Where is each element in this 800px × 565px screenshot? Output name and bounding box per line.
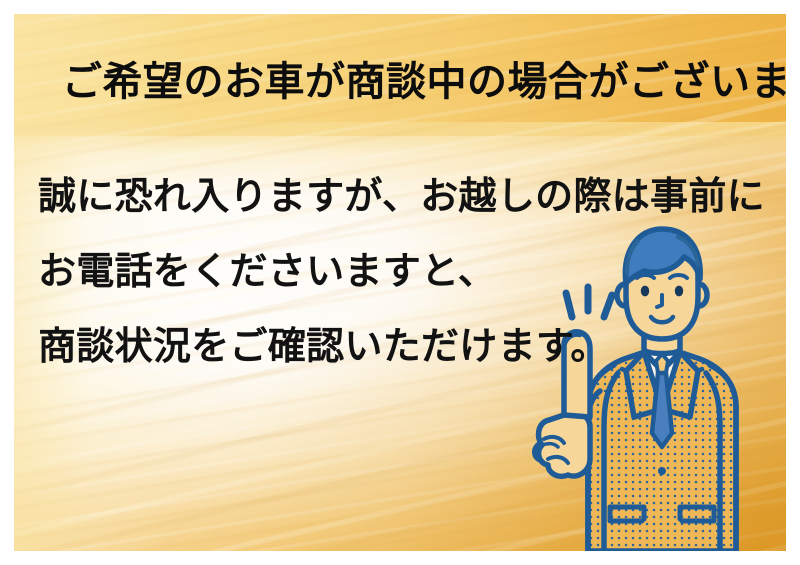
text-layer: ご希望のお車が商談中の場合がございます 誠に恐れ入りますが、お越しの際は事前に … [14,14,786,551]
body-line-3: 商談状況をご確認いただけます。 [38,323,609,369]
body-line-2: お電話をくださいますと、 [38,248,496,294]
page-title: ご希望のお車が商談中の場合がございます [62,56,786,108]
body-line-1: 誠に恐れ入りますが、お越しの際は事前に [38,173,765,219]
poster-root: ご希望のお車が商談中の場合がございます 誠に恐れ入りますが、お越しの際は事前に … [0,0,800,565]
poster-canvas: ご希望のお車が商談中の場合がございます 誠に恐れ入りますが、お越しの際は事前に … [14,14,786,551]
